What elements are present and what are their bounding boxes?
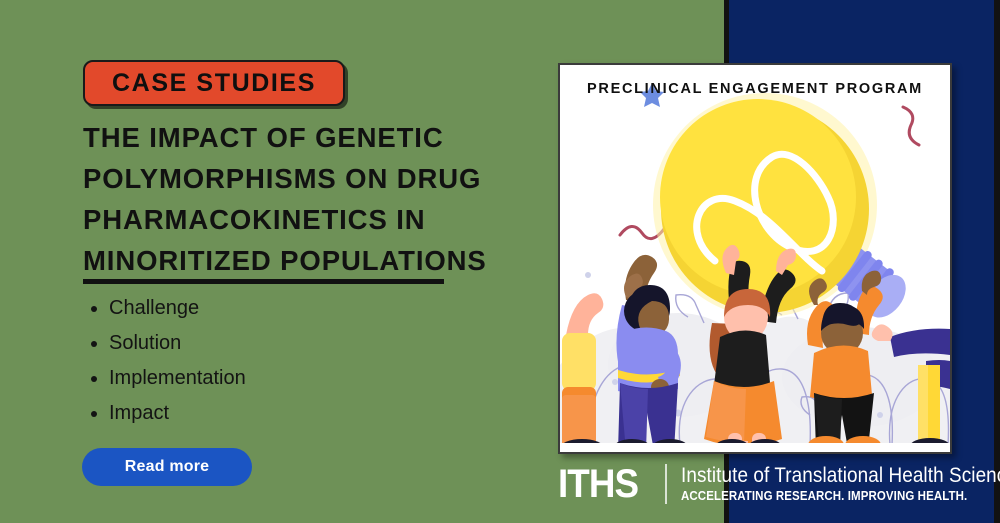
illustration-card: PRECLINICAL ENGAGEMENT PROGRAM	[558, 63, 952, 454]
title-underline	[83, 279, 444, 284]
list-item: Implementation	[109, 361, 246, 396]
logo-divider	[665, 464, 667, 504]
list-item: Solution	[109, 326, 246, 361]
people-lifting-lightbulb-icon	[560, 65, 950, 452]
promo-banner: CASE STUDIES The Impact of Genetic Polym…	[0, 0, 1000, 523]
card-title: PRECLINICAL ENGAGEMENT PROGRAM	[560, 81, 950, 97]
logo-tagline: ACCELERATING RESEARCH. IMPROVING HEALTH.	[681, 488, 1000, 505]
logo-text-block: Institute of Translational Health Scienc…	[681, 463, 1000, 505]
iths-logo-mark: ITHS	[558, 464, 638, 504]
page-title: The Impact of Genetic Polymorphisms on D…	[83, 117, 553, 281]
list-item: Challenge	[109, 291, 246, 326]
iths-logo: ITHS Institute of Translational Health S…	[558, 460, 1000, 508]
case-studies-badge-label: CASE STUDIES	[112, 71, 316, 96]
list-item: Impact	[109, 396, 246, 431]
logo-institute-name: Institute of Translational Health Scienc…	[681, 463, 1000, 488]
section-list: Challenge Solution Implementation Impact	[83, 291, 246, 431]
background-edge-right	[994, 0, 1000, 523]
read-more-button[interactable]: Read more	[82, 448, 252, 486]
case-studies-badge: CASE STUDIES	[83, 60, 345, 106]
